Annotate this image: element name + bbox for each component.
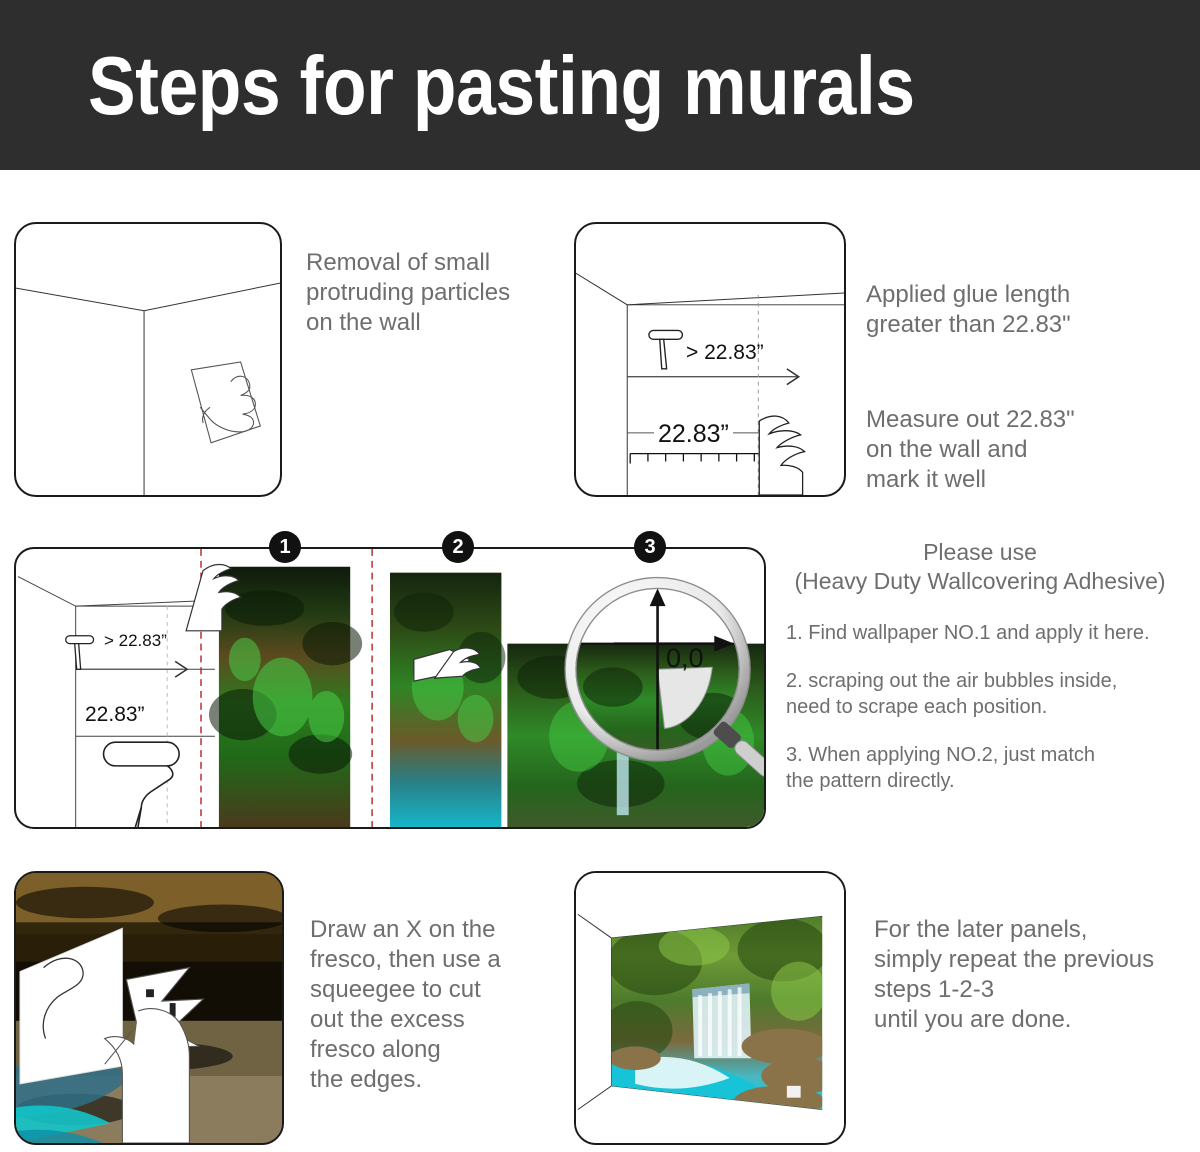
mid-greater-label: > 22.83”	[104, 631, 167, 651]
rock-photo-with-hand	[16, 873, 282, 1143]
adhesive-title-line1: Please use	[780, 538, 1180, 567]
squeegee-icon	[66, 636, 94, 670]
mid-step-2: 2. scraping out the air bubbles inside, …	[786, 668, 1186, 720]
step5-illustration-panel	[574, 871, 846, 1145]
step1-caption: Removal of small protruding particles on…	[306, 248, 566, 338]
paint-roller-icon	[104, 742, 180, 827]
room-corner-line-drawing	[16, 224, 280, 495]
mid-steps-list: 1. Find wallpaper NO.1 and apply it here…	[786, 620, 1186, 816]
step-badge-1: 1	[269, 531, 301, 563]
hand-with-scraper-icon	[191, 362, 260, 443]
mid-scene	[16, 549, 764, 827]
step2-caption-bottom: Measure out 22.83" on the wall and mark …	[866, 405, 1166, 495]
step4-caption: Draw an X on the fresco, then use a sque…	[310, 915, 570, 1095]
step2-illustration-panel: > 22.83” 22.83”	[574, 222, 846, 497]
measure-label: 22.83”	[654, 420, 733, 449]
adhesive-title-line2: (Heavy Duty Wallcovering Adhesive)	[780, 567, 1180, 596]
ruler-icon	[630, 454, 758, 464]
mid-step-3: 3. When applying NO.2, just match the pa…	[786, 742, 1186, 794]
step2-caption-top: Applied glue length greater than 22.83"	[866, 280, 1166, 340]
step5-caption: For the later panels, simply repeat the …	[874, 915, 1194, 1035]
greater-than-measure-label: > 22.83”	[686, 341, 764, 365]
steps-123-illustration-panel: > 22.83” 22.83” 0,0	[14, 547, 766, 829]
mid-measure-label: 22.83”	[82, 703, 148, 727]
finished-mural-perspective	[576, 873, 844, 1143]
origin-label: 0,0	[666, 643, 704, 674]
mid-step-1: 1. Find wallpaper NO.1 and apply it here…	[786, 620, 1186, 646]
hand-marking-icon	[759, 416, 804, 495]
step1-illustration-panel	[14, 222, 282, 497]
step-badge-3: 3	[634, 531, 666, 563]
page-title: Steps for pasting murals	[88, 34, 1000, 138]
step4-illustration-panel	[14, 871, 284, 1145]
squeegee-icon	[649, 330, 683, 368]
adhesive-title: Please use (Heavy Duty Wallcovering Adhe…	[780, 538, 1180, 596]
step-badge-2: 2	[442, 531, 474, 563]
header-bar: Steps for pasting murals	[0, 0, 1200, 170]
